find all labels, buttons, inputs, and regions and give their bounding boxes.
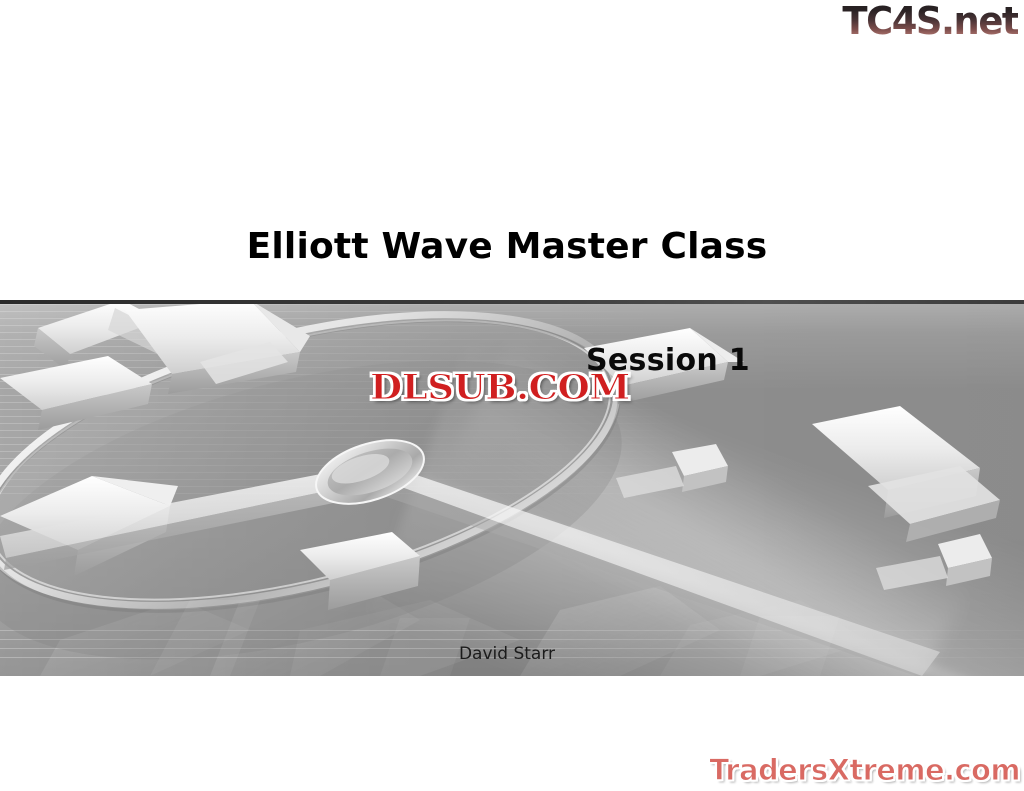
dlsub-watermark: DLSUB.COM — [370, 370, 630, 407]
tradersxtreme-logo: TradersXtreme.com — [709, 756, 1020, 785]
presenter-name: David Starr — [0, 644, 1024, 664]
tc4s-net-logo: TC4S.net — [842, 2, 1018, 40]
background-art-band — [0, 300, 1024, 676]
band-top-edge — [0, 300, 1024, 304]
presentation-slide: TC4S.net TC4S.net Elliott Wave Master Cl… — [0, 0, 1024, 791]
slide-title: Elliott Wave Master Class — [0, 226, 1024, 267]
clock-dial-illustration — [0, 300, 1024, 676]
